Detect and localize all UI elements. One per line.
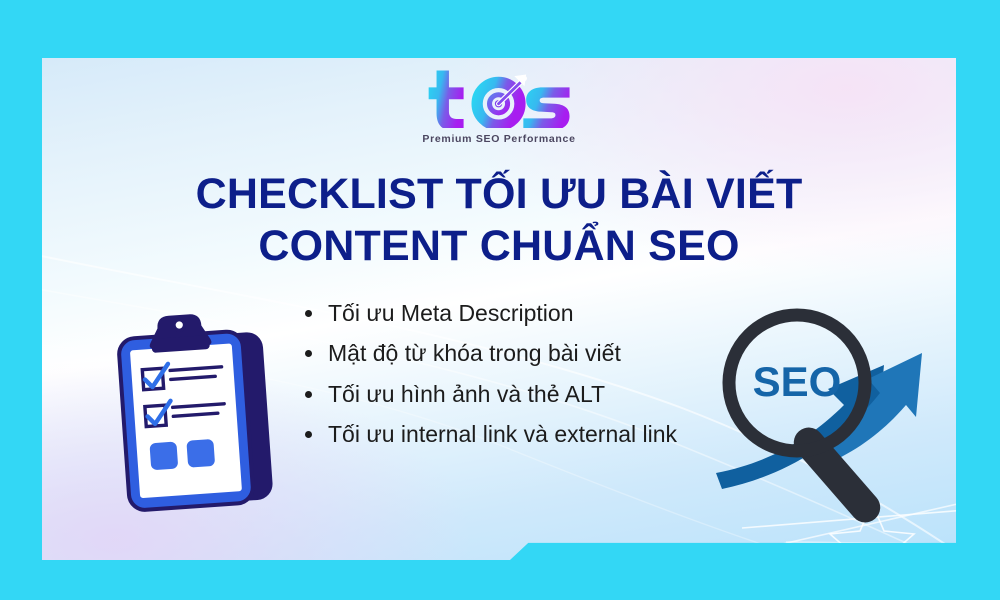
content-panel: Premium SEO Performance CHECKLIST TỐI ƯU… bbox=[42, 58, 956, 560]
list-item: Tối ưu Meta Description bbox=[300, 300, 677, 326]
list-item: Tối ưu hình ảnh và thẻ ALT bbox=[300, 381, 677, 407]
seo-label: SEO bbox=[753, 358, 842, 405]
list-item: Tối ưu internal link và external link bbox=[300, 421, 677, 447]
tos-logo-icon bbox=[414, 66, 583, 128]
seo-magnifier-icon: SEO bbox=[702, 293, 956, 560]
checklist-clipboard-icon bbox=[102, 306, 292, 536]
page-title: CHECKLIST TỐI ƯU BÀI VIẾT CONTENT CHUẨN … bbox=[42, 168, 956, 273]
poster-canvas: Premium SEO Performance CHECKLIST TỐI ƯU… bbox=[0, 0, 1000, 600]
checklist-items: Tối ưu Meta Description Mật độ từ khóa t… bbox=[300, 300, 677, 462]
page-title-line-2: CONTENT CHUẨN SEO bbox=[42, 220, 956, 272]
page-title-line-1: CHECKLIST TỐI ƯU BÀI VIẾT bbox=[42, 168, 956, 220]
list-item: Mật độ từ khóa trong bài viết bbox=[300, 340, 677, 366]
logo-tagline: Premium SEO Performance bbox=[422, 133, 575, 145]
brand-logo: Premium SEO Performance bbox=[42, 66, 956, 145]
